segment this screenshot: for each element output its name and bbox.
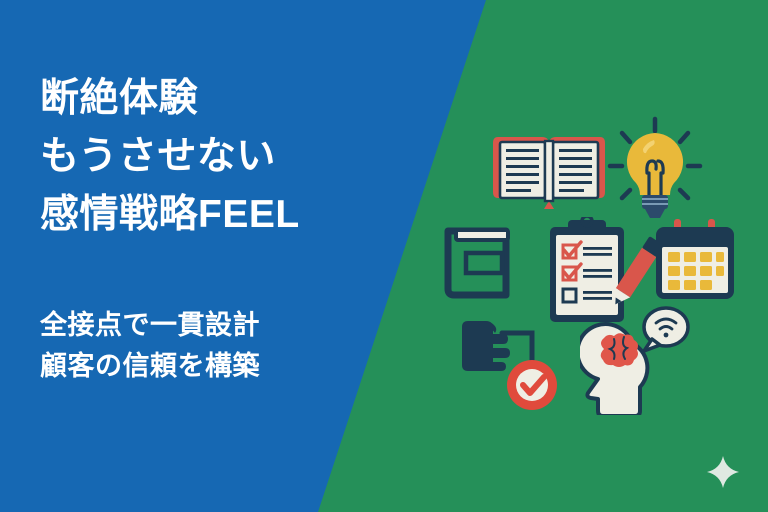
headline-line-3: 感情戦略FEEL	[40, 186, 440, 244]
pointing-hand-icon	[458, 317, 576, 413]
check-circle-icon	[507, 360, 557, 410]
illustration-cluster	[430, 105, 750, 415]
headline-line-1: 断絶体験	[40, 70, 440, 128]
lightbulb-icon	[602, 113, 708, 223]
wifi-bubble-icon	[644, 308, 688, 351]
closed-book-icon	[442, 223, 516, 303]
calendar-icon	[648, 217, 744, 309]
headline-line-2: もうさせない	[40, 128, 440, 186]
headline-block: 断絶体験 もうさせない 感情戦略FEEL	[40, 70, 440, 244]
subheadline-line-2: 顧客の信頼を構築	[40, 346, 440, 387]
subheadline-line-1: 全接点で一貫設計	[40, 305, 440, 346]
head-brain-icon	[580, 305, 692, 415]
sparkle-icon	[706, 455, 740, 489]
subheadline-block: 全接点で一貫設計 顧客の信頼を構築	[40, 305, 440, 387]
promo-banner: 断絶体験 もうさせない 感情戦略FEEL 全接点で一貫設計 顧客の信頼を構築	[0, 0, 768, 512]
open-book-icon	[490, 125, 608, 217]
